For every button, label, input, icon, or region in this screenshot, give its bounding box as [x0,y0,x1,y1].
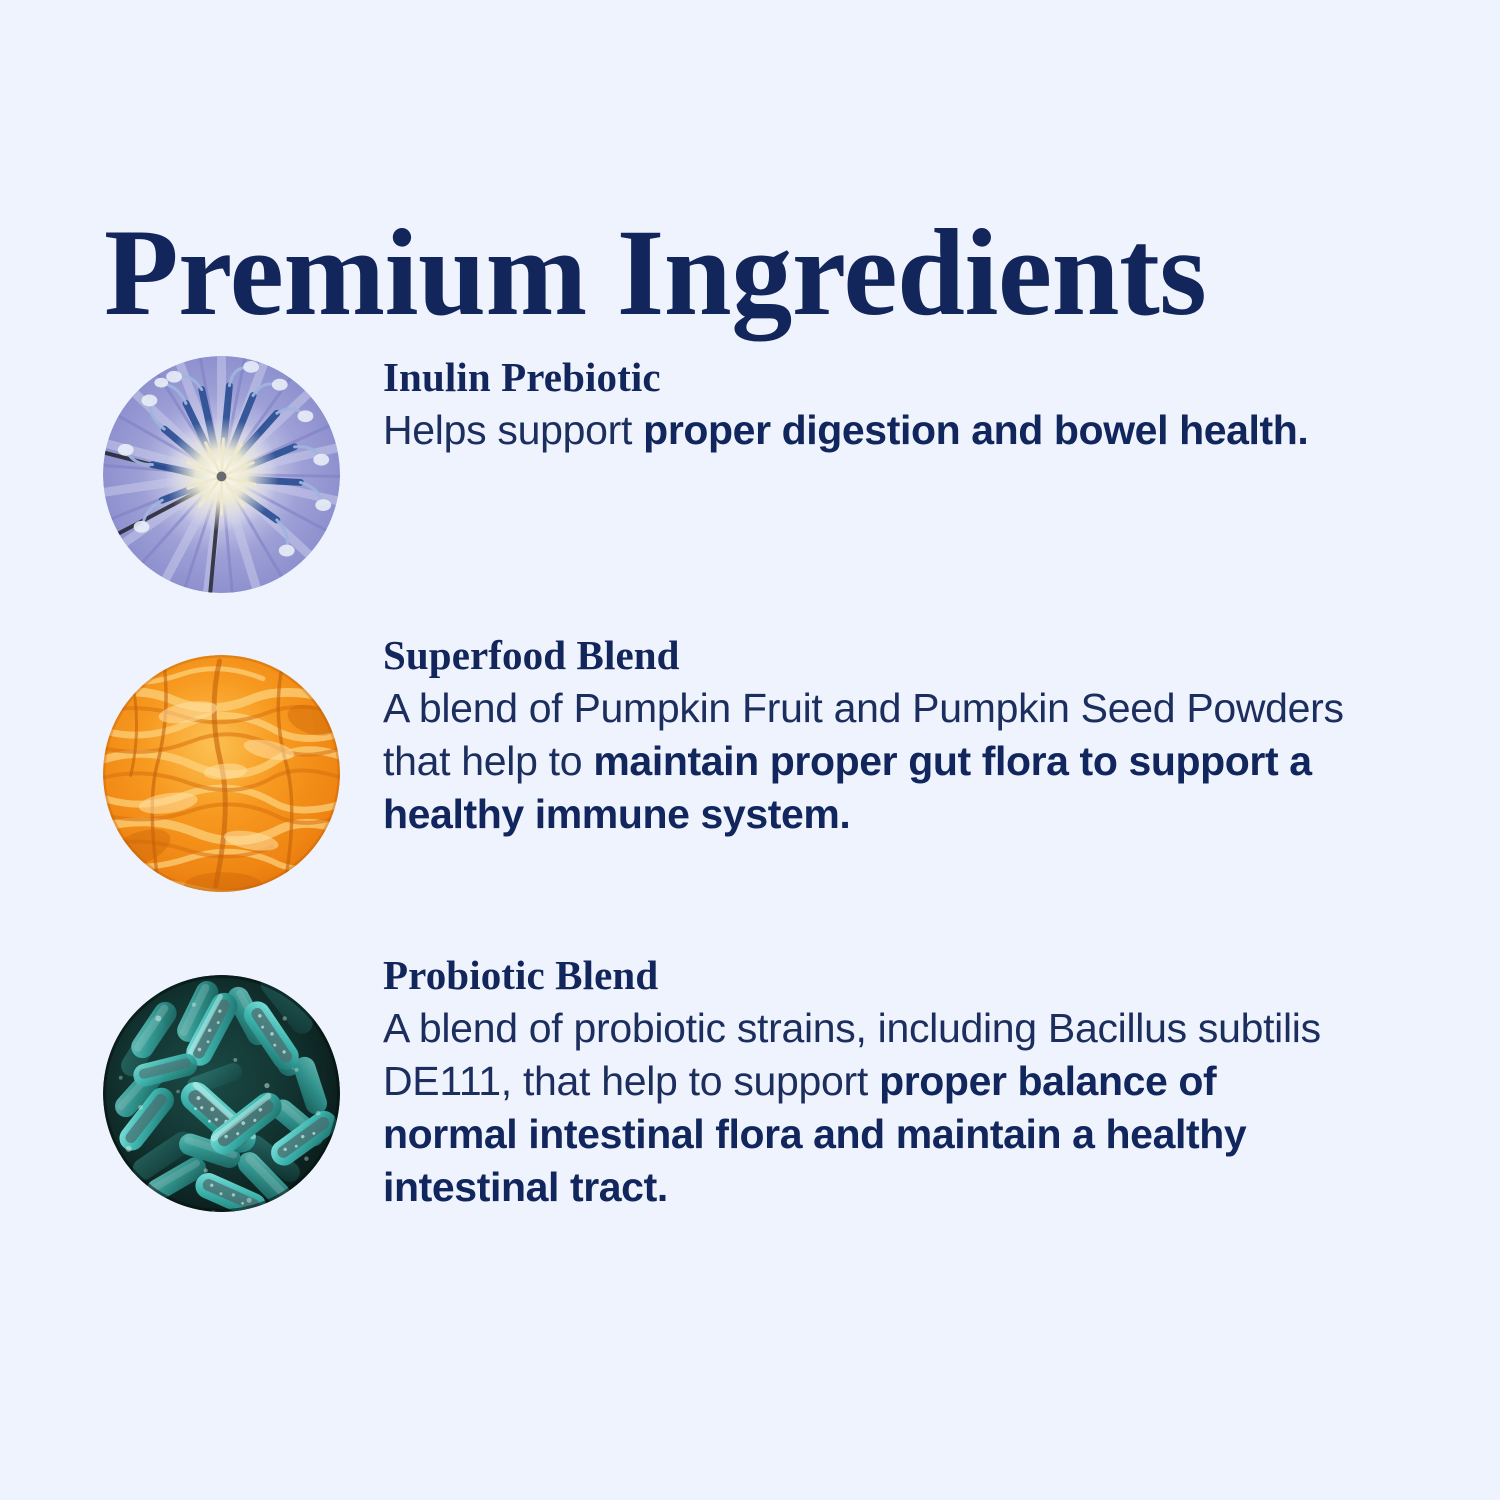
pumpkin-flesh-photo-icon [103,655,340,892]
premium-ingredients-page: Premium Ingredients [0,0,1500,1500]
ingredient-text-block: Inulin Prebiotic Helps support proper di… [383,352,1383,457]
ingredient-name: Inulin Prebiotic [383,352,1383,402]
ingredient-description: Helps support proper digestion and bowel… [383,404,1358,457]
ingredient-text-block: Probiotic Blend A blend of probiotic str… [383,950,1383,1214]
ingredient-text-block: Superfood Blend A blend of Pumpkin Fruit… [383,630,1383,841]
ingredient-description: A blend of probiotic strains, including … [383,1002,1358,1214]
ingredient-description-lead: Helps support [383,407,643,453]
ingredient-name: Probiotic Blend [383,950,1383,1000]
ingredient-description-emphasis: proper digestion and bowel health. [643,407,1308,453]
probiotic-bacteria-photo-icon [103,975,340,1212]
page-title: Premium Ingredients [104,211,1385,335]
ingredient-name: Superfood Blend [383,630,1383,680]
ingredient-description: A blend of Pumpkin Fruit and Pumpkin See… [383,682,1358,841]
chicory-flower-photo-icon [103,356,340,593]
